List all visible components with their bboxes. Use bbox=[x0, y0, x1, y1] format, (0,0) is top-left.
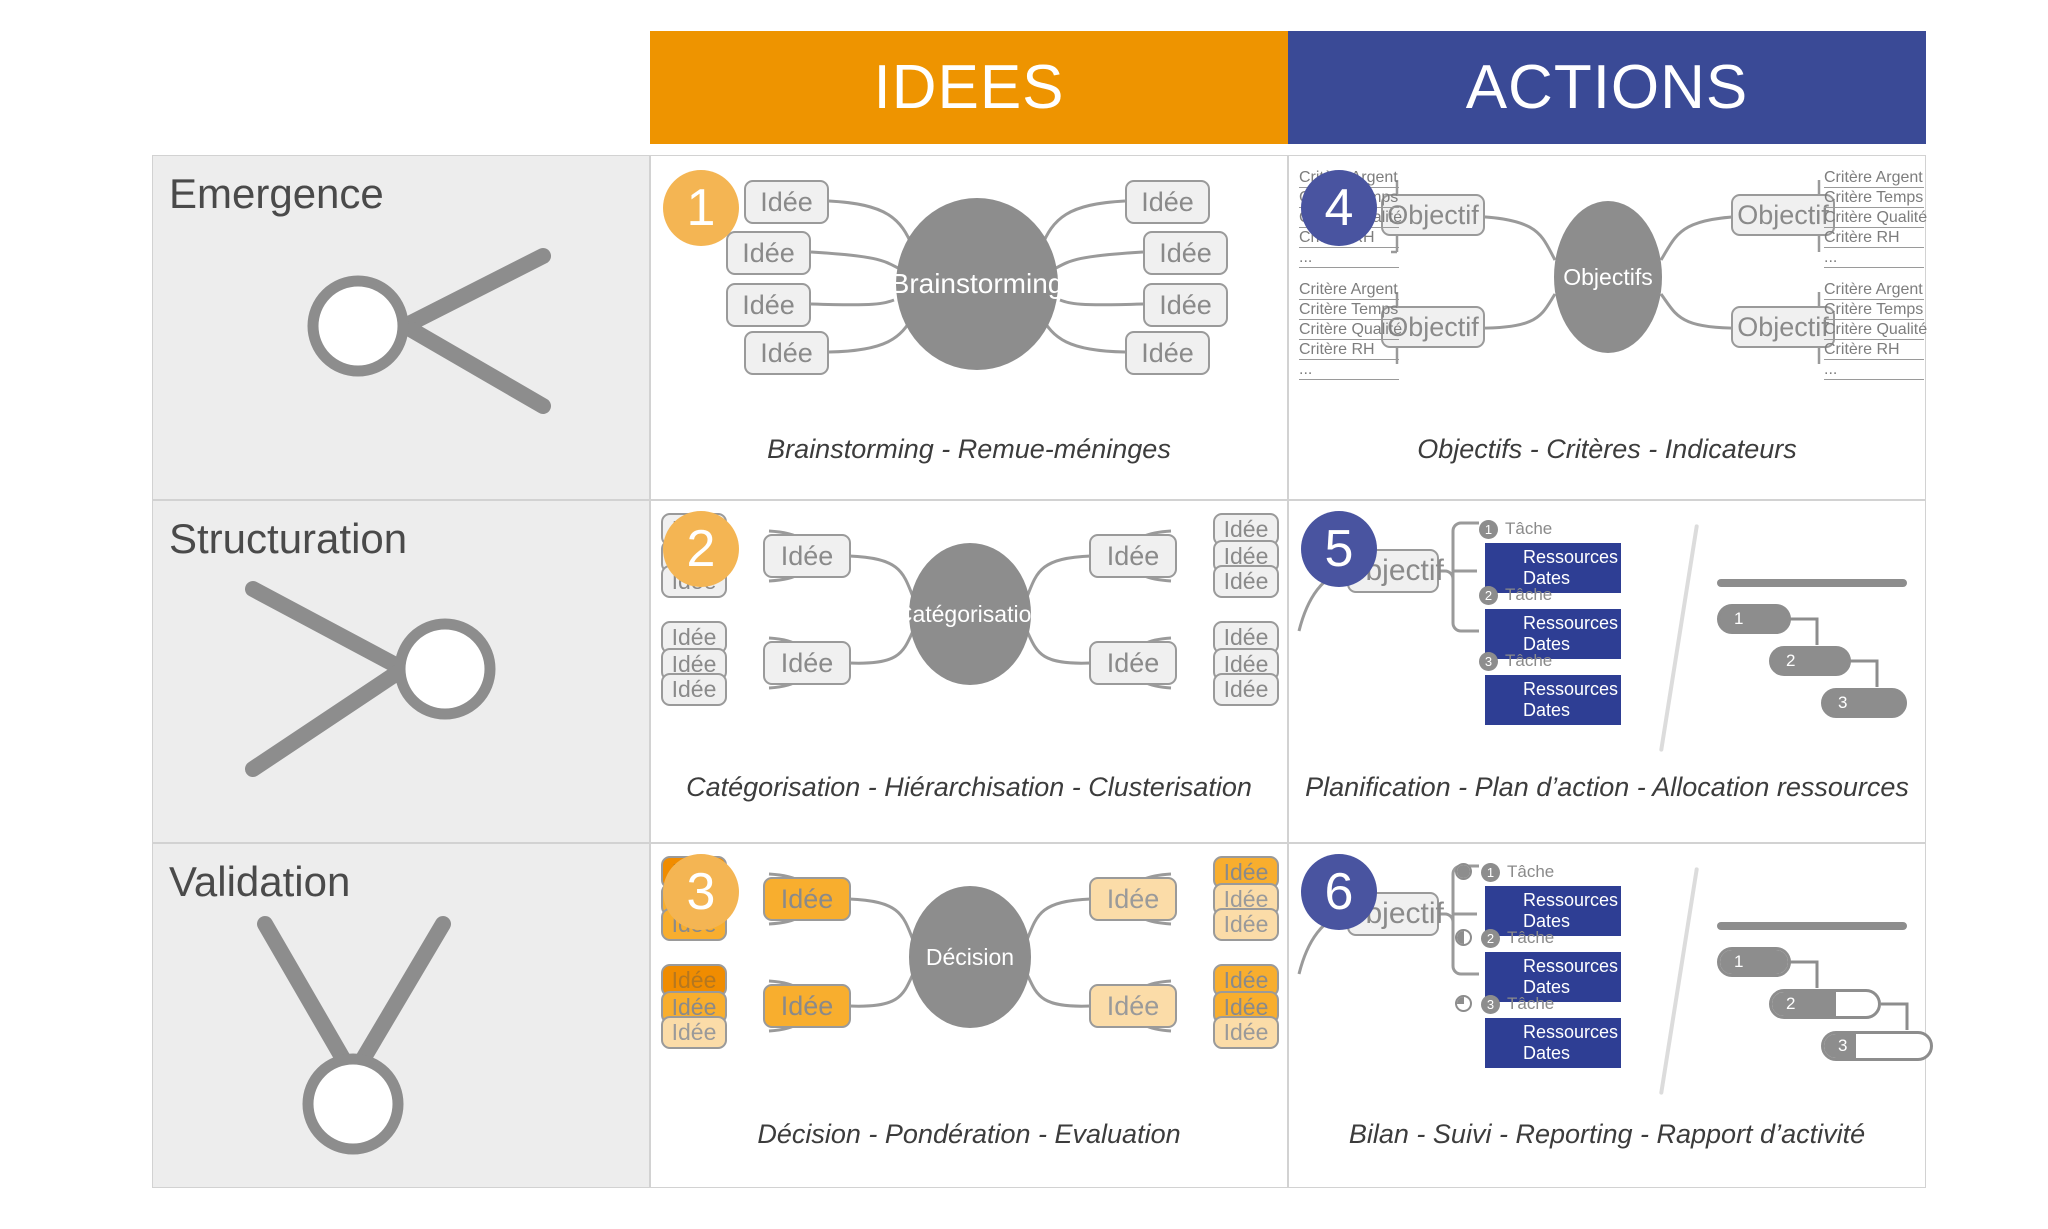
gantt-axis bbox=[1717, 922, 1907, 930]
leaf-node[interactable]: Idée bbox=[661, 673, 727, 706]
branch-node[interactable]: Idée bbox=[1089, 534, 1177, 578]
step-badge-4-label: 4 bbox=[1325, 178, 1354, 238]
row-label-emergence: Emergence bbox=[152, 155, 650, 500]
hub-categorisation: Catégorisation bbox=[909, 543, 1031, 685]
cell-planification: 5 Objectif 1 Tâche Ressources Dates 2 Tâ… bbox=[1288, 500, 1926, 843]
step-badge-1: 1 bbox=[663, 170, 739, 246]
idea-node[interactable]: Idée bbox=[744, 331, 829, 375]
task-label: Tâche bbox=[1505, 651, 1552, 671]
step-badge-2: 2 bbox=[663, 511, 739, 587]
criterion-label: Critère Qualité bbox=[1824, 208, 1924, 228]
task-number: 3 bbox=[1479, 652, 1498, 671]
cell-bilan: 6 Objectif 1 Tâche Ressources Dates 2 bbox=[1288, 843, 1926, 1188]
gantt-bar[interactable]: 1 bbox=[1717, 604, 1791, 634]
leaf-node[interactable]: Idée bbox=[1213, 673, 1279, 706]
task-label: Tâche bbox=[1505, 585, 1552, 605]
criterion-label: Critère Argent bbox=[1299, 280, 1399, 300]
step-badge-2-label: 2 bbox=[687, 519, 716, 579]
step-badge-4: 4 bbox=[1301, 170, 1377, 246]
leaf-node[interactable]: Idée bbox=[1213, 908, 1279, 941]
cell-objectifs: 4 Objectifs Objectif bbox=[1288, 155, 1926, 500]
idea-node[interactable]: Idée bbox=[744, 180, 829, 224]
caption-bilan: Bilan - Suivi - Reporting - Rapport d’ac… bbox=[1289, 1119, 1925, 1150]
criterion-label: Critère Argent bbox=[1824, 168, 1924, 188]
hub-brainstorming: Brainstorming bbox=[896, 198, 1058, 370]
criterion-label: Critère Argent bbox=[1824, 280, 1924, 300]
caption-objectifs: Objectifs - Critères - Indicateurs bbox=[1289, 434, 1925, 465]
task-number: 3 bbox=[1481, 995, 1500, 1014]
caption-planification: Planification - Plan d’action - Allocati… bbox=[1289, 772, 1925, 803]
progress-indicator-full bbox=[1455, 863, 1472, 880]
criterion-label: Critère Temps bbox=[1824, 300, 1924, 320]
resource-box: Ressources Dates bbox=[1485, 675, 1621, 725]
cell-categorisation: 2 bbox=[650, 500, 1288, 843]
objective-node[interactable]: Objectif bbox=[1731, 306, 1835, 348]
idea-node[interactable]: Idée bbox=[1143, 231, 1228, 275]
step-badge-6-label: 6 bbox=[1325, 862, 1354, 922]
branch-node[interactable]: Idée bbox=[1089, 641, 1177, 685]
branch-node[interactable]: Idée bbox=[763, 877, 851, 921]
criterion-label: Critère Qualité bbox=[1299, 320, 1399, 340]
criterion-label: ... bbox=[1299, 248, 1399, 268]
leaf-node[interactable]: Idée bbox=[1213, 565, 1279, 598]
task-number: 2 bbox=[1479, 586, 1498, 605]
criterion-label: Critère RH bbox=[1299, 340, 1399, 360]
resource-box: Ressources Dates bbox=[1485, 1018, 1621, 1068]
caption-brainstorming: Brainstorming - Remue-méninges bbox=[651, 434, 1287, 465]
branch-node[interactable]: Idée bbox=[1089, 877, 1177, 921]
column-header-actions: ACTIONS bbox=[1288, 31, 1926, 144]
task-label: Tâche bbox=[1507, 928, 1554, 948]
row-label-validation: Validation bbox=[152, 843, 650, 1188]
row-label-structuration-text: Structuration bbox=[169, 515, 407, 563]
gantt-bar[interactable]: 2 bbox=[1769, 989, 1881, 1019]
task-number: 2 bbox=[1481, 929, 1500, 948]
task-label: Tâche bbox=[1505, 519, 1552, 539]
criterion-label: Critère RH bbox=[1824, 340, 1924, 360]
idea-node[interactable]: Idée bbox=[1143, 283, 1228, 327]
gantt-bar[interactable]: 3 bbox=[1821, 688, 1907, 718]
criterion-label: Critère Temps bbox=[1824, 188, 1924, 208]
gantt-bar[interactable]: 1 bbox=[1717, 947, 1791, 977]
task-number: 1 bbox=[1479, 520, 1498, 539]
caption-decision: Décision - Pondération - Evaluation bbox=[651, 1119, 1287, 1150]
idea-node[interactable]: Idée bbox=[726, 283, 811, 327]
criterion-label: Critère Qualité bbox=[1824, 320, 1924, 340]
gantt-bar[interactable]: 2 bbox=[1769, 646, 1851, 676]
criterion-label: Critère RH bbox=[1824, 228, 1924, 248]
criterion-label: ... bbox=[1824, 248, 1924, 268]
leaf-node[interactable]: Idée bbox=[1213, 1016, 1279, 1049]
idea-node[interactable]: Idée bbox=[726, 231, 811, 275]
column-header-idees-label: IDEES bbox=[873, 52, 1064, 123]
step-badge-5: 5 bbox=[1301, 511, 1377, 587]
step-badge-6: 6 bbox=[1301, 854, 1377, 930]
leaf-node[interactable]: Idée bbox=[661, 1016, 727, 1049]
step-badge-1-label: 1 bbox=[687, 178, 716, 238]
idea-node[interactable]: Idée bbox=[1125, 331, 1210, 375]
hub-decision: Décision bbox=[909, 886, 1031, 1028]
idea-node[interactable]: Idée bbox=[1125, 180, 1210, 224]
hub-objectifs: Objectifs bbox=[1554, 201, 1662, 353]
row-label-emergence-text: Emergence bbox=[169, 170, 384, 218]
cell-brainstorming: 1 Brainstorming Idée Idée Idé bbox=[650, 155, 1288, 500]
task-label: Tâche bbox=[1507, 994, 1554, 1014]
task-number: 1 bbox=[1481, 863, 1500, 882]
row-label-structuration: Structuration bbox=[152, 500, 650, 843]
branch-node[interactable]: Idée bbox=[1089, 984, 1177, 1028]
caption-categorisation: Catégorisation - Hiérarchisation - Clust… bbox=[651, 772, 1287, 803]
column-header-idees: IDEES bbox=[650, 31, 1288, 144]
branch-node[interactable]: Idée bbox=[763, 984, 851, 1028]
step-badge-3-label: 3 bbox=[687, 862, 716, 922]
criterion-label: ... bbox=[1824, 360, 1924, 380]
branch-node[interactable]: Idée bbox=[763, 534, 851, 578]
criterion-label: Critère Temps bbox=[1299, 300, 1399, 320]
progress-indicator-quarter bbox=[1455, 995, 1472, 1012]
step-badge-5-label: 5 bbox=[1325, 519, 1354, 579]
branch-node[interactable]: Idée bbox=[763, 641, 851, 685]
row-label-validation-text: Validation bbox=[169, 858, 350, 906]
step-badge-3: 3 bbox=[663, 854, 739, 930]
matrix-diagram: IDEES ACTIONS Emergence Structuration Va… bbox=[0, 0, 2048, 1229]
column-header-actions-label: ACTIONS bbox=[1466, 52, 1749, 123]
criterion-label: ... bbox=[1299, 360, 1399, 380]
progress-indicator-half bbox=[1455, 929, 1472, 946]
gantt-bar[interactable]: 3 bbox=[1821, 1031, 1933, 1061]
objective-node[interactable]: Objectif bbox=[1731, 194, 1835, 236]
task-label: Tâche bbox=[1507, 862, 1554, 882]
cell-decision: 3 bbox=[650, 843, 1288, 1188]
gantt-axis bbox=[1717, 579, 1907, 587]
